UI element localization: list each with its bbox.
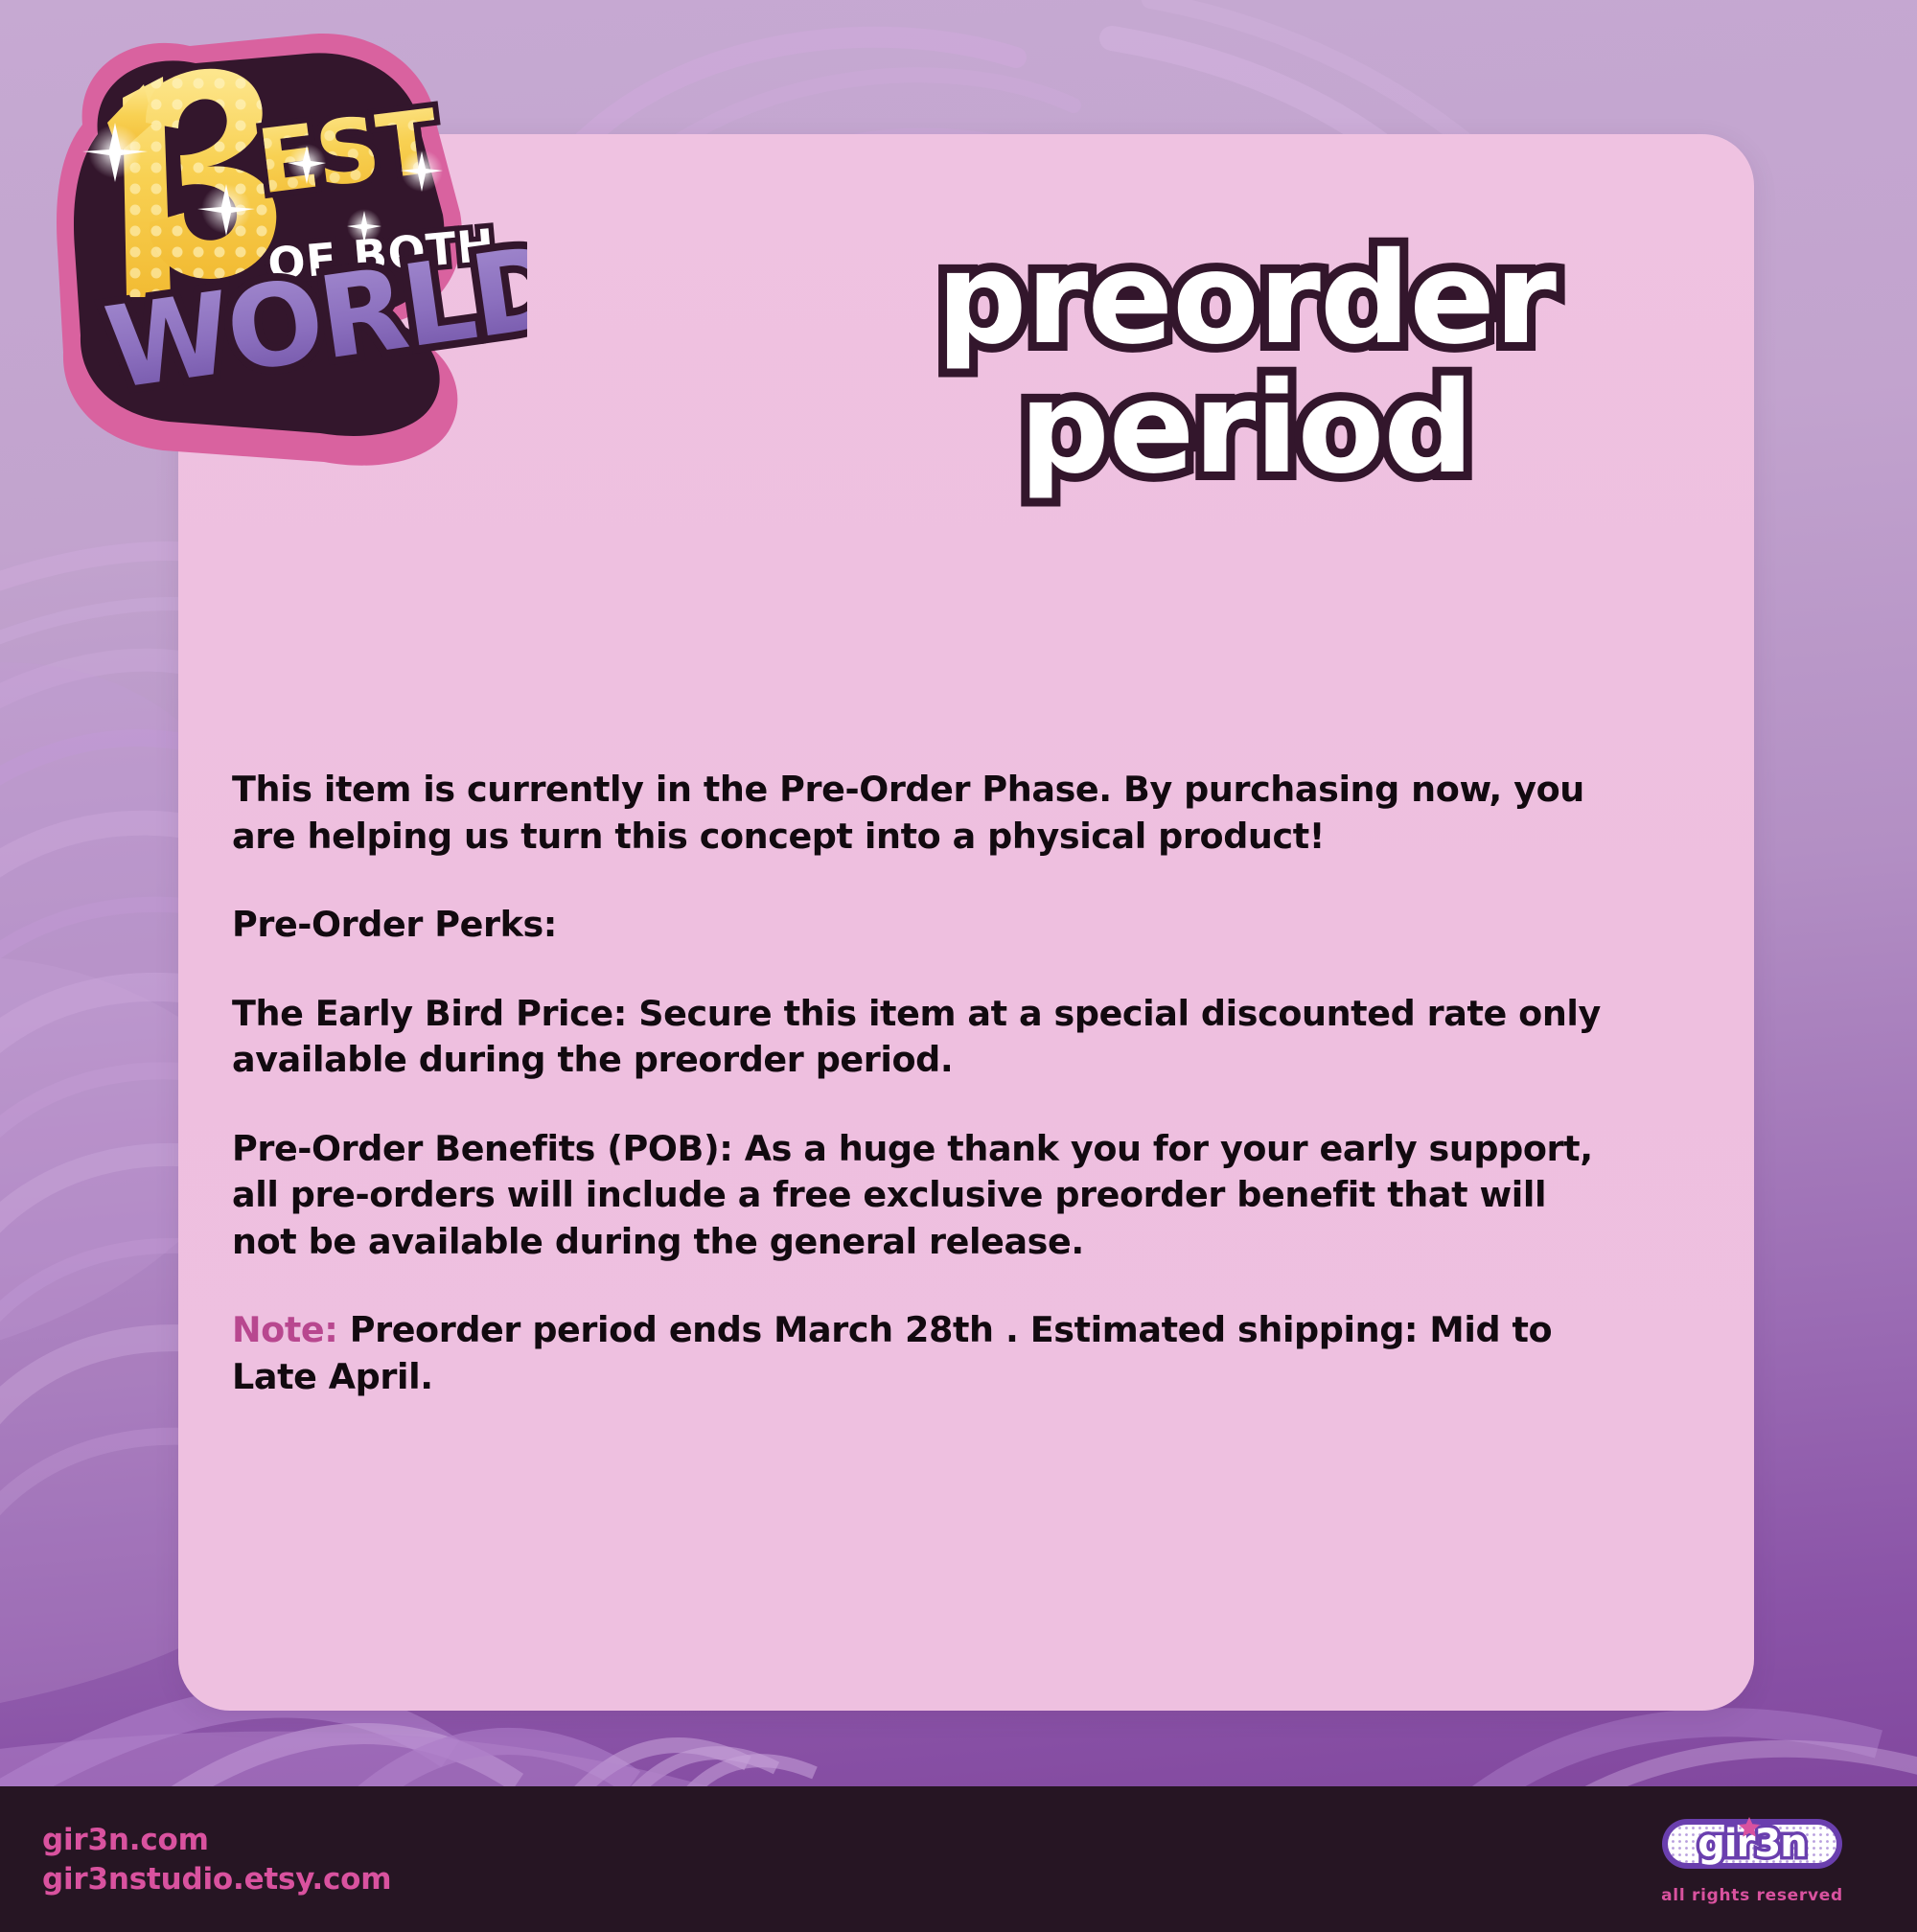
page-title: preorder period xyxy=(863,235,1629,493)
gir3n-logo: gir3n xyxy=(1656,1811,1848,1878)
rights-text: all rights reserved xyxy=(1628,1886,1877,1905)
paragraph-perks-heading: Pre-Order Perks: xyxy=(232,902,1603,949)
footer-links: gir3n.com gir3nstudio.etsy.com xyxy=(42,1821,391,1899)
note-text: Preorder period ends March 28th . Estima… xyxy=(232,1309,1552,1397)
title-line-2: period xyxy=(863,364,1629,494)
paragraph-intro: This item is currently in the Pre-Order … xyxy=(232,767,1603,860)
brand-block: gir3n all rights reserved xyxy=(1628,1811,1877,1905)
note-label: Note: xyxy=(232,1309,337,1350)
body-copy: This item is currently in the Pre-Order … xyxy=(232,767,1603,1400)
link-etsy-shop[interactable]: gir3nstudio.etsy.com xyxy=(42,1860,391,1899)
title-line-1: preorder xyxy=(863,235,1629,364)
paragraph-early-bird: The Early Bird Price: Secure this item a… xyxy=(232,991,1603,1084)
link-website[interactable]: gir3n.com xyxy=(42,1821,391,1860)
footer-bar: gir3n.com gir3nstudio.etsy.com gir3n xyxy=(0,1786,1917,1932)
paragraph-pob: Pre-Order Benefits (POB): As a huge than… xyxy=(232,1126,1603,1266)
paragraph-note: Note: Preorder period ends March 28th . … xyxy=(232,1307,1603,1400)
poster-canvas: EST EST OF BOTH WORLDS xyxy=(0,0,1917,1932)
